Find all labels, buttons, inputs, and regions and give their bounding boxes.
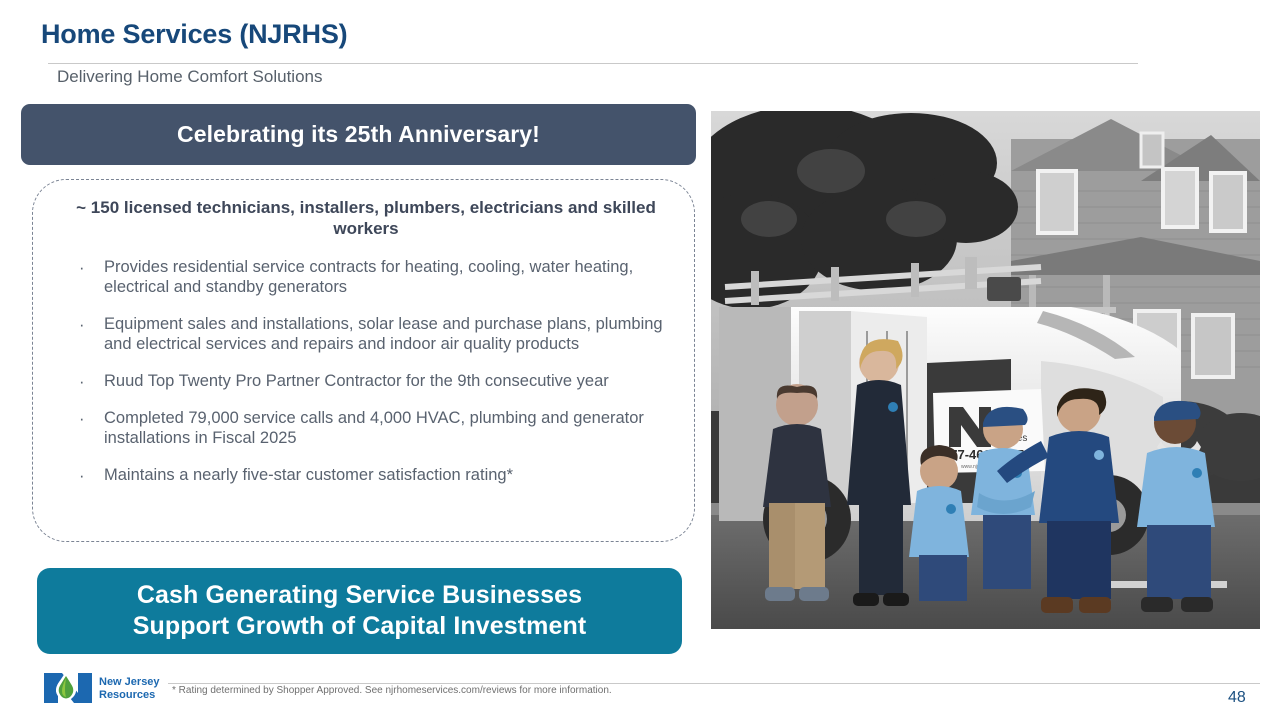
logo-line1: New Jersey (99, 676, 160, 688)
footnote-text: * Rating determined by Shopper Approved.… (172, 685, 612, 696)
highlights-box-heading: ~ 150 licensed technicians, installers, … (71, 198, 661, 240)
slide: Home Services (NJRHS) Delivering Home Co… (0, 0, 1280, 720)
page-subtitle: Delivering Home Comfort Solutions (57, 67, 323, 87)
capital-investment-line1: Cash Generating Service Businesses (133, 580, 587, 611)
bullet-dot-icon: · (79, 410, 85, 430)
capital-investment-banner: Cash Generating Service Businesses Suppo… (37, 568, 682, 654)
highlights-bullet-list: · Provides residential service contracts… (73, 258, 673, 503)
list-item: · Equipment sales and installations, sol… (73, 315, 673, 355)
list-item-text: Completed 79,000 service calls and 4,000… (104, 409, 644, 447)
bullet-dot-icon: · (79, 259, 85, 279)
list-item-text: Maintains a nearly five-star customer sa… (104, 466, 513, 484)
team-van-photo-graphic: NJR Home Services 877-466-3657 www.njrho… (711, 111, 1260, 629)
title-divider (48, 63, 1138, 64)
list-item-text: Equipment sales and installations, solar… (104, 315, 663, 353)
list-item-text: Provides residential service contracts f… (104, 258, 633, 296)
page-number: 48 (1228, 689, 1246, 707)
bullet-dot-icon: · (79, 373, 85, 393)
bullet-dot-icon: · (79, 316, 85, 336)
anniversary-banner: Celebrating its 25th Anniversary! (21, 104, 696, 165)
team-van-photo: NJR Home Services 877-466-3657 www.njrho… (711, 111, 1260, 629)
njr-logo-icon: New Jersey Resources (40, 669, 172, 705)
list-item: · Provides residential service contracts… (73, 258, 673, 298)
highlights-box: ~ 150 licensed technicians, installers, … (32, 179, 695, 542)
capital-investment-line2: Support Growth of Capital Investment (133, 611, 587, 642)
list-item: · Maintains a nearly five-star customer … (73, 466, 673, 486)
bullet-dot-icon: · (79, 467, 85, 487)
njr-logo: New Jersey Resources (40, 669, 172, 705)
list-item: · Ruud Top Twenty Pro Partner Contractor… (73, 372, 673, 392)
list-item-text: Ruud Top Twenty Pro Partner Contractor f… (104, 372, 609, 390)
list-item: · Completed 79,000 service calls and 4,0… (73, 409, 673, 449)
capital-investment-banner-text: Cash Generating Service Businesses Suppo… (133, 580, 587, 643)
page-title: Home Services (NJRHS) (41, 19, 347, 50)
footnote-divider (168, 683, 1260, 684)
anniversary-banner-text: Celebrating its 25th Anniversary! (177, 121, 540, 148)
logo-line2: Resources (99, 689, 155, 701)
